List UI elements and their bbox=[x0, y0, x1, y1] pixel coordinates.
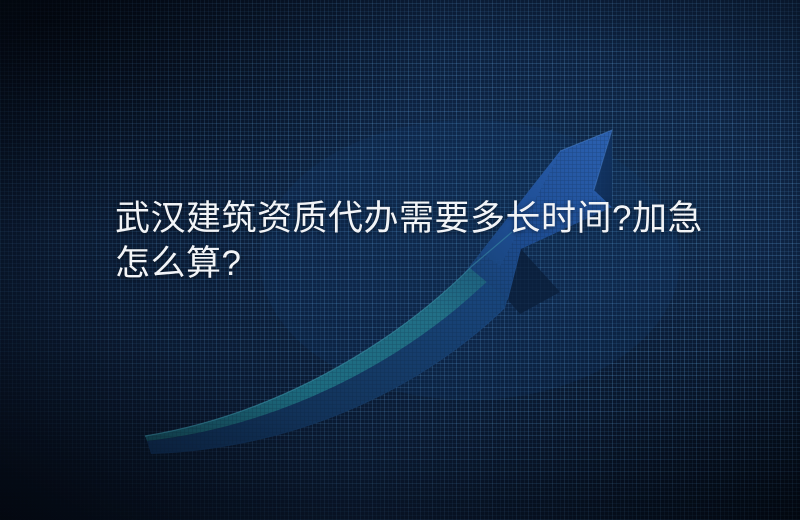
headline-line-1: 武汉建筑资质代办需要多长时间 bbox=[115, 199, 612, 238]
banner-headline: 武汉建筑资质代办需要多长时间?加急怎么算? bbox=[115, 196, 715, 286]
promo-banner: 武汉建筑资质代办需要多长时间?加急怎么算? bbox=[0, 0, 800, 520]
